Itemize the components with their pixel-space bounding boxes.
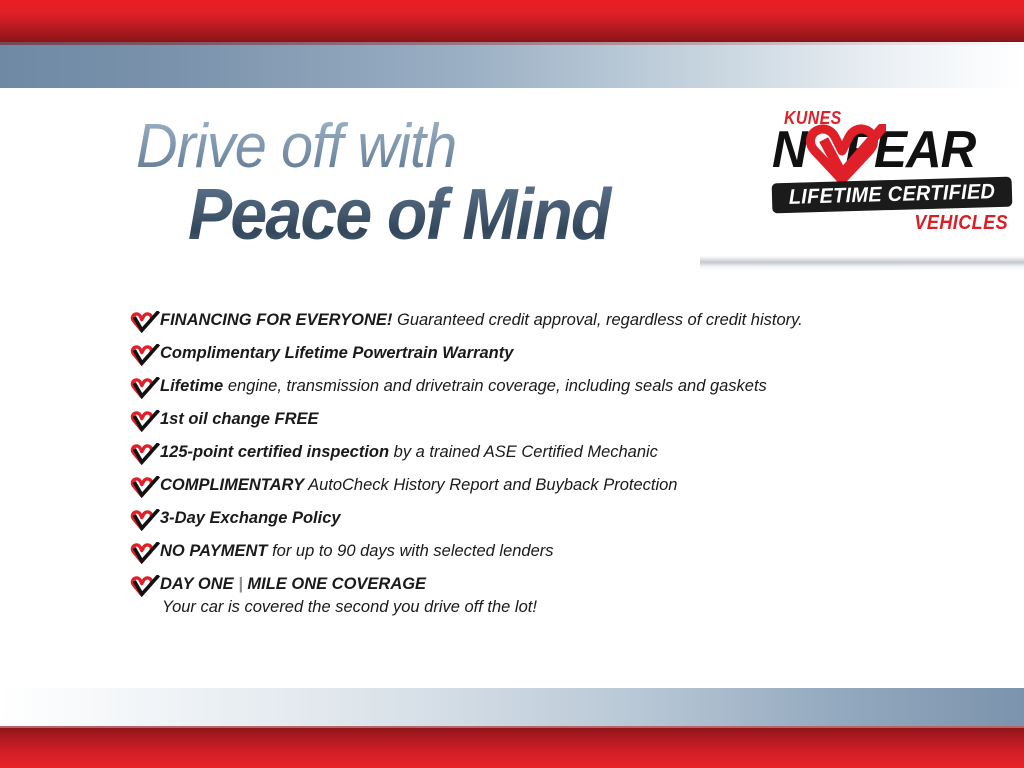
benefit-item: FINANCING FOR EVERYONE! Guaranteed credi… [130,310,930,333]
heart-check-icon [800,124,886,186]
heart-check-icon [130,476,160,498]
benefit-text: FINANCING FOR EVERYONE! Guaranteed credi… [160,310,803,330]
benefit-item: 1st oil change FREE [130,409,930,432]
headline-line-2: Peace of Mind [188,179,711,251]
heart-check-icon [130,377,160,399]
heart-check-icon [130,476,160,498]
top-slate-banner-bar [0,42,1024,88]
heart-check-icon [130,344,160,366]
heart-check-icon [130,542,160,564]
heart-check-icon [130,509,160,531]
heart-check-icon [130,542,160,564]
benefits-list: FINANCING FOR EVERYONE! Guaranteed credi… [130,310,930,627]
heart-check-icon [130,344,160,366]
benefit-item: DAY ONE | MILE ONE COVERAGEYour car is c… [130,574,930,617]
benefit-item: 3-Day Exchange Policy [130,508,930,531]
benefit-item: 125-point certified inspection by a trai… [130,442,930,465]
benefit-subtext: Your car is covered the second you drive… [162,597,537,617]
heart-check-icon [130,410,160,432]
logo-vehicles-text: VEHICLES [914,212,1008,235]
heart-check-icon [130,509,160,531]
logo-lifetime-certified-text: LIFETIME CERTIFIED [778,177,1007,213]
benefit-text: NO PAYMENT for up to 90 days with select… [160,541,554,561]
heart-check-icon [130,311,160,333]
benefit-text: 3-Day Exchange Policy [160,508,341,528]
heart-check-icon [130,377,160,399]
benefit-item: NO PAYMENT for up to 90 days with select… [130,541,930,564]
bottom-red-banner-bar [0,726,1024,768]
benefit-item: Complimentary Lifetime Powertrain Warran… [130,343,930,366]
header-divider-band [700,256,1024,270]
heart-check-icon [130,311,160,333]
kunes-no-fear-logo: KUNES NFEAR LIFETIME CERTIFIED VEHICLES [768,108,1016,248]
headline: Drive off with Peace of Mind [136,118,756,251]
logo-lifetime-certified-bar: LIFETIME CERTIFIED [772,177,1013,214]
heart-check-icon [130,575,160,597]
heart-check-icon [130,443,160,465]
top-red-banner-bar [0,0,1024,42]
heart-check-icon [130,443,160,465]
heart-check-icon [130,410,160,432]
benefit-text: 125-point certified inspection by a trai… [160,442,658,462]
bottom-slate-banner-bar [0,688,1024,726]
benefit-item: Lifetime engine, transmission and drivet… [130,376,930,399]
headline-line-1: Drive off with [136,118,713,177]
benefit-text: 1st oil change FREE [160,409,319,429]
benefit-text: Complimentary Lifetime Powertrain Warran… [160,343,513,363]
benefit-item: COMPLIMENTARY AutoCheck History Report a… [130,475,930,498]
benefit-text: DAY ONE | MILE ONE COVERAGE [160,574,537,594]
benefit-text: COMPLIMENTARY AutoCheck History Report a… [160,475,677,495]
heart-check-icon [130,575,160,597]
benefit-text: Lifetime engine, transmission and drivet… [160,376,767,396]
